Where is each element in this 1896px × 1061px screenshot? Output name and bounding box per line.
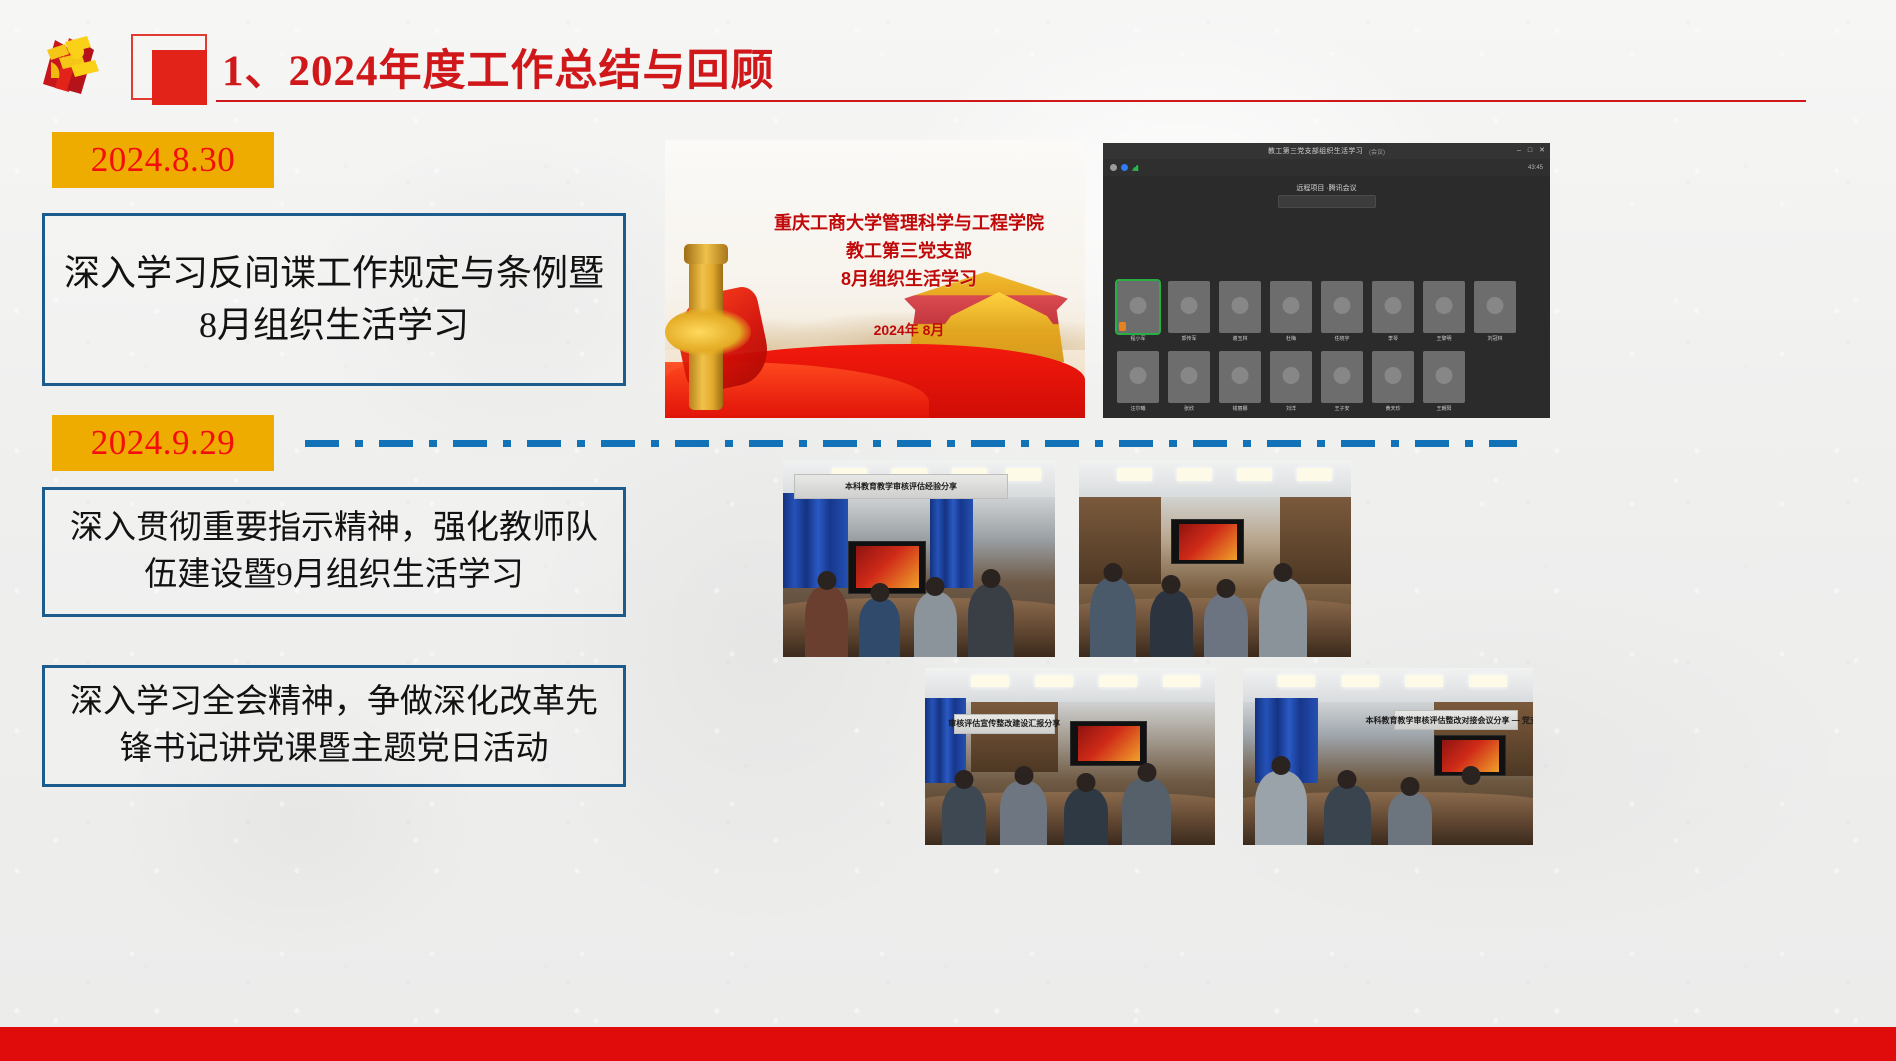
participant-name: 汪尔曦 — [1117, 405, 1159, 412]
meeting-room-label: 远程项目 ·腾讯会议 — [1103, 183, 1550, 193]
meeting-title-bar: 教工第三党支部组织生活学习 (会议) – □ ✕ — [1103, 143, 1550, 159]
footer-bar — [0, 1027, 1896, 1061]
meeting-timer: 43:45 — [1528, 165, 1543, 171]
avatar — [1168, 281, 1210, 333]
cover-slide-date: 2024年 8月 — [739, 320, 1079, 340]
participant-tile[interactable]: 王黎明 — [1423, 281, 1465, 342]
cover-title-line-3: 8月组织生活学习 — [739, 266, 1079, 294]
avatar — [1372, 281, 1414, 333]
signal-bars-icon — [1132, 164, 1140, 171]
date-badge-1: 2024.8.30 — [52, 132, 274, 188]
participant-name: 郭传军 — [1168, 335, 1210, 342]
participant-name: 谢玉林 — [1219, 335, 1261, 342]
participant-grid: 程小军 郭传军 谢玉林 杜梅 任晓宇 李琴 — [1117, 281, 1537, 418]
minimize-icon[interactable]: – — [1517, 147, 1521, 154]
photo-banner: 本科教育教学审核评估经验分享 — [794, 474, 1008, 500]
participant-tile[interactable]: 李琴 — [1372, 281, 1414, 342]
meeting-photo-3: 审核评估宣传整改建设汇报分享 — [925, 668, 1215, 845]
meeting-title: 教工第三党支部组织生活学习 — [1268, 146, 1363, 156]
participant-name: 杜梅 — [1270, 335, 1312, 342]
timeline-text-box-2: 深入贯彻重要指示精神，强化教师队伍建设暨9月组织生活学习 — [42, 487, 626, 617]
avatar — [1270, 351, 1312, 403]
participant-tile[interactable]: 汪尔曦 — [1117, 351, 1159, 412]
participant-tile[interactable]: 刘洋 — [1270, 351, 1312, 412]
square-solid-icon — [152, 50, 207, 105]
avatar — [1168, 351, 1210, 403]
participant-tile[interactable]: 郭传军 — [1168, 281, 1210, 342]
cover-title-line-2: 教工第三党支部 — [739, 238, 1079, 266]
participant-name: 黄天珍 — [1372, 405, 1414, 412]
avatar — [1372, 351, 1414, 403]
avatar — [1219, 351, 1261, 403]
cover-slide-image: 重庆工商大学管理科学与工程学院 教工第三党支部 8月组织生活学习 2024年 8… — [665, 140, 1085, 418]
page-title: 1、2024年度工作总结与回顾 — [222, 36, 775, 98]
info-icon — [1121, 164, 1128, 171]
participant-name: 任晓宇 — [1321, 335, 1363, 342]
avatar — [1474, 281, 1516, 333]
mic-icon — [1119, 322, 1126, 331]
participant-name: 钱丽娜 — [1219, 405, 1261, 412]
close-icon[interactable]: ✕ — [1539, 147, 1545, 154]
timeline-text-box-1: 深入学习反间谍工作规定与条例暨8月组织生活学习 — [42, 213, 626, 386]
participant-tile[interactable]: 任晓宇 — [1321, 281, 1363, 342]
avatar — [1219, 281, 1261, 333]
participant-name: 王朝阳 — [1423, 405, 1465, 412]
cover-slide-title: 重庆工商大学管理科学与工程学院 教工第三党支部 8月组织生活学习 — [739, 210, 1079, 294]
photo-banner-text: 本科教育教学审核评估整改对接会议分享 — 党支部 — [1395, 711, 1517, 729]
date-badge-2: 2024.9.29 — [52, 415, 274, 471]
party-emblem-icon — [25, 22, 111, 100]
avatar — [1423, 281, 1465, 333]
meeting-photo-2 — [1079, 460, 1351, 657]
photo-banner-text: 审核评估宣传整改建设汇报分享 — [955, 715, 1054, 733]
participant-name: 王黎明 — [1423, 335, 1465, 342]
participant-tile[interactable]: 谢玉林 — [1219, 281, 1261, 342]
participant-tile[interactable]: 杜梅 — [1270, 281, 1312, 342]
dash-dot-divider — [305, 440, 1517, 447]
header-divider-rule — [216, 100, 1806, 102]
avatar — [1117, 351, 1159, 403]
participant-row-1: 程小军 郭传军 谢玉林 杜梅 任晓宇 李琴 — [1117, 281, 1537, 342]
avatar — [1270, 281, 1312, 333]
window-controls[interactable]: – □ ✕ — [1517, 147, 1545, 154]
participant-name: 程小军 — [1117, 335, 1159, 342]
avatar — [1321, 281, 1363, 333]
slide-header: 1、2024年度工作总结与回顾 — [0, 0, 1896, 130]
photo-banner-text: 本科教育教学审核评估经验分享 — [795, 475, 1007, 499]
avatar — [1423, 351, 1465, 403]
participant-tile[interactable]: 钱丽娜 — [1219, 351, 1261, 412]
participant-tile[interactable]: 程小军 — [1117, 281, 1159, 342]
meeting-status-bar: 43:45 — [1103, 159, 1550, 176]
participant-tile[interactable]: 张欣 — [1168, 351, 1210, 412]
participant-name: 李琴 — [1372, 335, 1414, 342]
meeting-photo-1: 本科教育教学审核评估经验分享 — [783, 460, 1055, 657]
participant-tile[interactable]: 王子安 — [1321, 351, 1363, 412]
participant-name: 王子安 — [1321, 405, 1363, 412]
meeting-subtitle: (会议) — [1369, 147, 1385, 156]
cover-title-line-1: 重庆工商大学管理科学与工程学院 — [739, 210, 1079, 238]
avatar — [1321, 351, 1363, 403]
video-meeting-window[interactable]: 教工第三党支部组织生活学习 (会议) – □ ✕ 43:45 远程项目 ·腾讯会… — [1103, 143, 1550, 418]
participant-row-2: 汪尔曦 张欣 钱丽娜 刘洋 王子安 黄天珍 — [1117, 351, 1537, 412]
maximize-icon[interactable]: □ — [1528, 147, 1532, 154]
participant-tile[interactable]: 黄天珍 — [1372, 351, 1414, 412]
avatar — [1117, 281, 1159, 333]
meeting-search-input[interactable] — [1278, 195, 1376, 208]
meeting-photo-4: 本科教育教学审核评估整改对接会议分享 — 党支部 — [1243, 668, 1533, 845]
timeline-text-box-3: 深入学习全会精神，争做深化改革先锋书记讲党课暨主题党日活动 — [42, 665, 626, 787]
participant-name: 张欣 — [1168, 405, 1210, 412]
lock-icon — [1110, 164, 1117, 171]
participant-name: 刘洋 — [1270, 405, 1312, 412]
participant-tile[interactable]: 王朝阳 — [1423, 351, 1465, 412]
participant-tile[interactable]: 刘冠林 — [1474, 281, 1516, 342]
participant-name: 刘冠林 — [1474, 335, 1516, 342]
